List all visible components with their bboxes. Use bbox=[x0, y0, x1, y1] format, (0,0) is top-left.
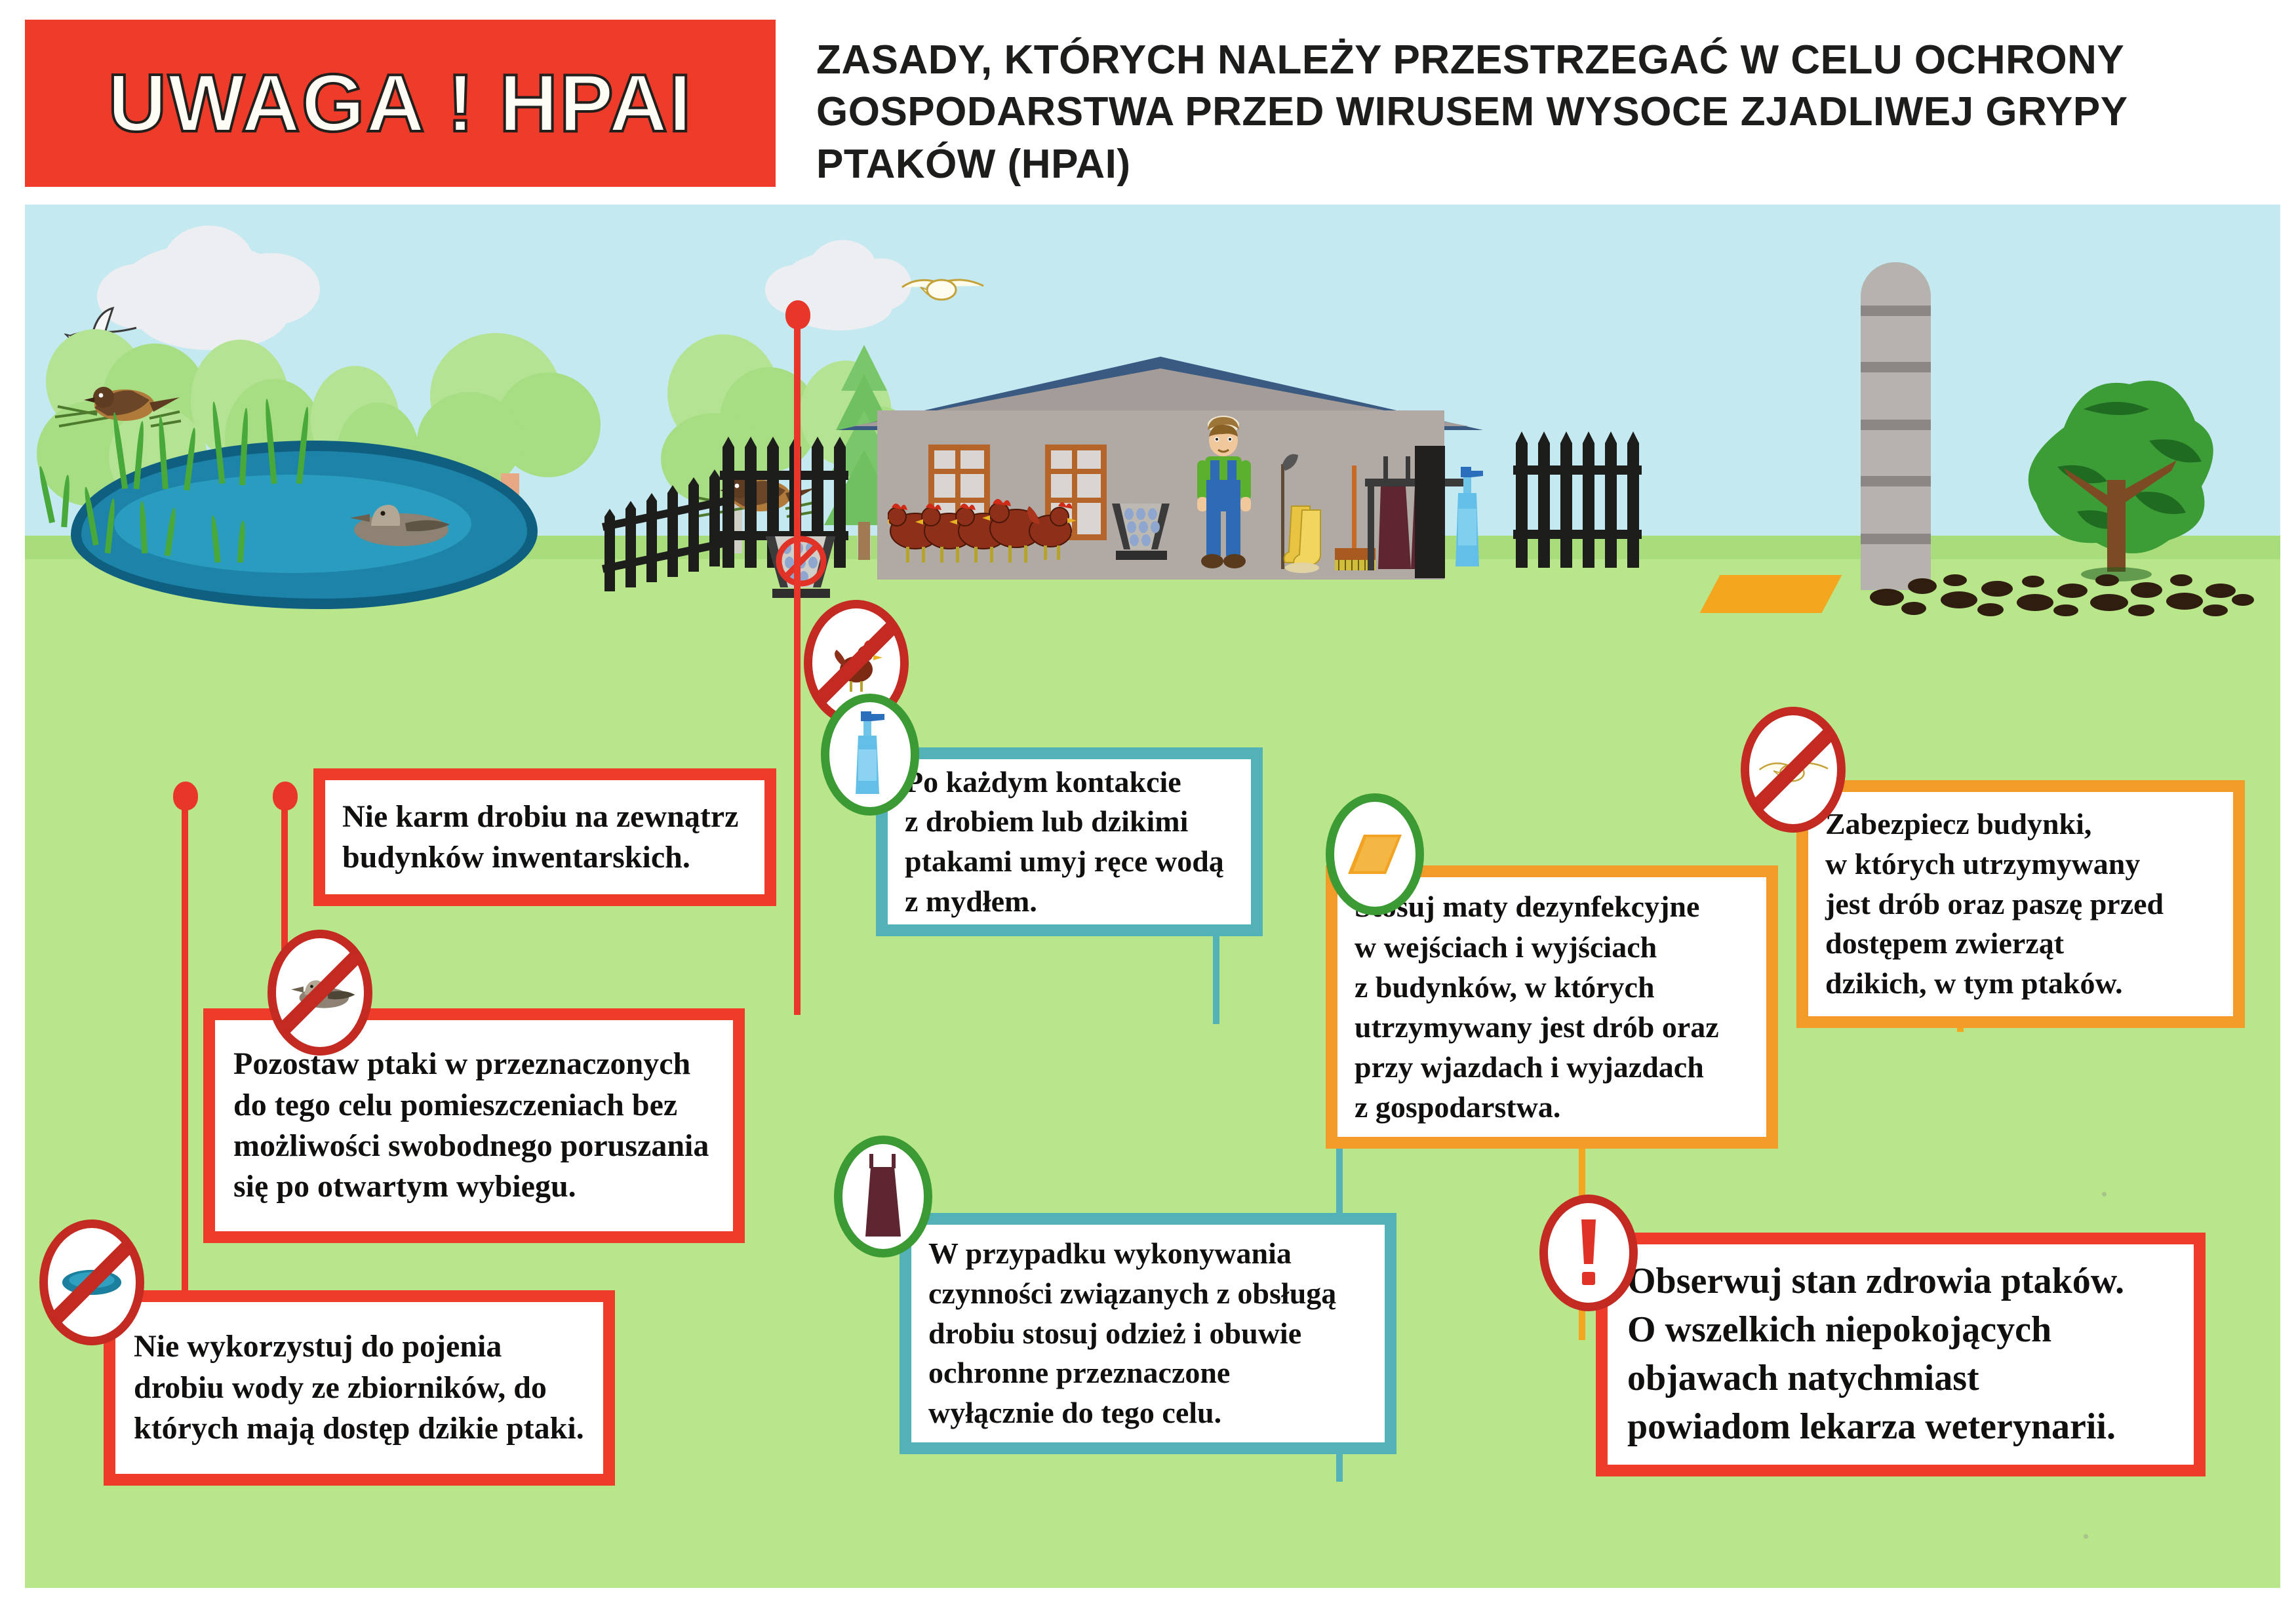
rule-line: Nie wykorzystuj do pojenia bbox=[134, 1326, 585, 1367]
rule-box-protective-clothing: W przypadku wykonywania czynności związa… bbox=[900, 1213, 1396, 1454]
rule-line: dostępem zwierząt bbox=[1825, 924, 2216, 964]
disinfection-mat bbox=[1700, 575, 1842, 613]
silo-band bbox=[1861, 306, 1931, 316]
silo-band bbox=[1861, 420, 1931, 430]
manure-heap bbox=[1867, 572, 2254, 629]
subtitle-line-3: PTAKÓW (HPAI) bbox=[816, 138, 2246, 190]
picket-fence-right bbox=[1513, 427, 1664, 585]
rule-line: się po otwartym wybiegu. bbox=[233, 1166, 715, 1207]
rule-line: Nie karm drobiu na zewnątrz bbox=[342, 797, 747, 837]
rule-line: budynków inwentarskich. bbox=[342, 837, 747, 878]
spray-bottle-icon bbox=[821, 694, 919, 816]
rule-line: do tego celu pomieszczeniach bez bbox=[233, 1085, 715, 1126]
rule-line: dzikich, w tym ptaków. bbox=[1825, 964, 2216, 1004]
rule-line: w wejściach i wyjściach bbox=[1355, 927, 1749, 967]
indoor-feeder bbox=[1105, 500, 1176, 570]
rule-line: objawach natychmiast bbox=[1627, 1355, 2174, 1403]
rule-line: utrzymywany jest drób oraz bbox=[1355, 1007, 1749, 1047]
rule-box-keep-birds-indoors: Pozostaw ptaki w przeznaczonych do tego … bbox=[203, 1008, 745, 1243]
no-wild-bird-icon bbox=[1741, 707, 1846, 833]
barn-door bbox=[1415, 446, 1445, 578]
rule-line: czynności związanych z obsługą bbox=[928, 1274, 1368, 1314]
rule-line: powiadom lekarza weterynarii. bbox=[1627, 1403, 2174, 1452]
farmer bbox=[1185, 414, 1264, 574]
silo-band bbox=[1861, 476, 1931, 486]
silo-band bbox=[1861, 534, 1931, 544]
rule-line: Obserwuj stan zdrowia ptaków. bbox=[1627, 1257, 2174, 1306]
subtitle-line-1: ZASADY, KTÓRYCH NALEŻY PRZESTRZEGAĆ W CE… bbox=[816, 34, 2246, 86]
chicken-flock bbox=[888, 488, 1091, 574]
apron-glyph bbox=[859, 1154, 907, 1239]
rule-line: jest drób oraz paszę przed bbox=[1825, 884, 2216, 924]
rule-line: których mają dostęp dzikie ptaki. bbox=[134, 1408, 585, 1449]
rule-line: O wszelkich niepokojących bbox=[1627, 1306, 2174, 1355]
rubber-boots bbox=[1280, 504, 1332, 576]
cloud-left bbox=[123, 244, 287, 323]
no-pond-water-icon bbox=[39, 1219, 144, 1345]
rule-line: wyłącznie do tego celu. bbox=[928, 1393, 1368, 1433]
rule-line: z drobiem lub dzikimi bbox=[905, 802, 1234, 842]
mat-glyph bbox=[1347, 831, 1403, 878]
rule-line: możliwości swobodnego poruszania bbox=[233, 1126, 715, 1166]
spray-glyph bbox=[849, 711, 891, 798]
silo-band bbox=[1861, 362, 1931, 372]
rule-line: z budynków, w których bbox=[1355, 967, 1749, 1007]
scan-speck bbox=[2084, 1534, 2088, 1539]
poster-header: UWAGA ! HPAI ZASADY, KTÓRYCH NALEŻY PRZE… bbox=[0, 0, 2296, 205]
rule-line: Po każdym kontakcie bbox=[905, 762, 1234, 802]
rule-line: Zabezpiecz budynki, bbox=[1825, 804, 2216, 844]
rule-box-wash-hands: Po każdym kontakcie z drobiem lub dzikim… bbox=[876, 747, 1263, 936]
wild-duck bbox=[333, 492, 464, 551]
subtitle-line-2: GOSPODARSTWA PRZED WIRUSEM WYSOCE ZJADLI… bbox=[816, 86, 2246, 138]
outdoor-feeder-prohibited bbox=[758, 531, 843, 615]
scan-speck bbox=[2102, 1192, 2107, 1197]
wild-bird-flying-3 bbox=[897, 261, 989, 313]
exclamation-glyph bbox=[1574, 1217, 1604, 1289]
hpai-biosecurity-poster: UWAGA ! HPAI ZASADY, KTÓRYCH NALEŻY PRZE… bbox=[0, 0, 2296, 1603]
alert-title-plate: UWAGA ! HPAI bbox=[25, 20, 776, 187]
rule-box-no-open-water: Nie wykorzystuj do pojenia drobiu wody z… bbox=[104, 1290, 615, 1486]
rule-line: ochronne przeznaczone bbox=[928, 1353, 1368, 1393]
silo bbox=[1861, 262, 1931, 590]
rule-line: drobiu stosuj odzież i obuwie bbox=[928, 1314, 1368, 1354]
rule-line: przy wjazdach i wyjazdach bbox=[1355, 1047, 1749, 1087]
rule-line: drobiu wody ze zbiorników, do bbox=[134, 1368, 585, 1408]
poultry-house bbox=[877, 357, 1444, 580]
alert-title: UWAGA ! HPAI bbox=[25, 57, 776, 150]
no-duck-icon bbox=[267, 930, 372, 1056]
spray-bottle bbox=[1452, 467, 1491, 572]
rule-line: W przypadku wykonywania bbox=[928, 1234, 1368, 1274]
rule-line: z gospodarstwa. bbox=[1355, 1087, 1749, 1127]
tree-dark-right bbox=[1985, 349, 2241, 591]
rule-line: w których utrzymywany bbox=[1825, 844, 2216, 884]
rule-box-observe-health: Obserwuj stan zdrowia ptaków. O wszelkic… bbox=[1596, 1233, 2206, 1476]
poster-subtitle: ZASADY, KTÓRYCH NALEŻY PRZESTRZEGAĆ W CE… bbox=[816, 34, 2246, 190]
rule-box-secure-buildings: Zabezpiecz budynki, w których utrzymywan… bbox=[1796, 780, 2245, 1028]
rule-line: ptakami umyj ręce wodą bbox=[905, 842, 1234, 882]
rule-line: z mydłem. bbox=[905, 882, 1234, 922]
exclamation-icon bbox=[1539, 1195, 1638, 1311]
apron-icon bbox=[834, 1136, 932, 1257]
disinfection-mat-icon bbox=[1326, 793, 1424, 915]
rule-line: Stosuj maty dezynfekcyjne bbox=[1355, 886, 1749, 926]
rule-box-no-outdoor-feeding: Nie karm drobiu na zewnątrz budynków inw… bbox=[313, 768, 776, 906]
